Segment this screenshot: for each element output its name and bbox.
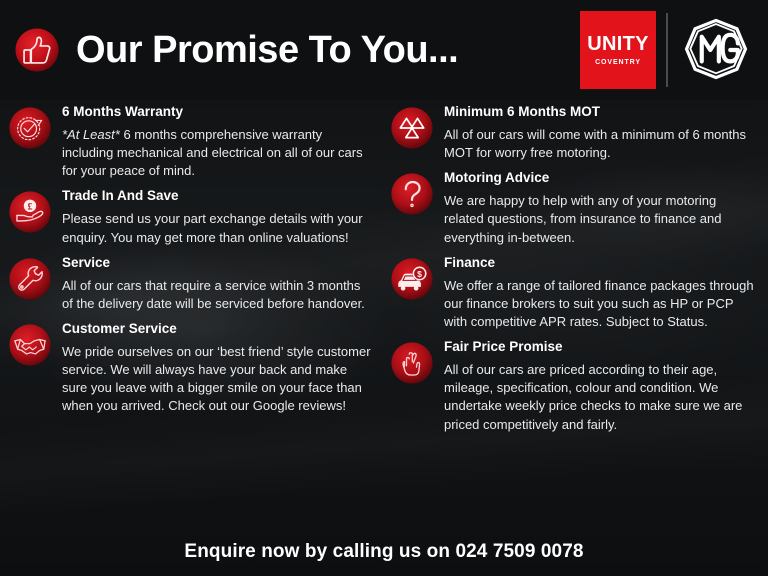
promise-text: All of our cars that require a service w… (62, 277, 374, 313)
promise-text: All of our cars will come with a minimum… (444, 126, 758, 162)
crossed-fingers-icon (390, 341, 434, 385)
promise-item-body: 6 Months Warranty *At Least* 6 months co… (62, 104, 374, 180)
promise-text: All of our cars are priced according to … (444, 361, 758, 434)
promise-item-body: Minimum 6 Months MOT All of our cars wil… (444, 104, 758, 162)
promise-heading: Motoring Advice (444, 170, 758, 187)
promise-text: *At Least* 6 months comprehensive warran… (62, 126, 374, 181)
promise-heading: Fair Price Promise (444, 339, 758, 356)
promise-text: Please send us your part exchange detail… (62, 210, 374, 246)
promise-item-customer-service: Customer Service We pride ourselves on o… (8, 321, 374, 416)
promise-heading: Minimum 6 Months MOT (444, 104, 758, 121)
unity-logo-location: COVENTRY (595, 59, 641, 66)
promise-item-body: Customer Service We pride ourselves on o… (62, 321, 374, 416)
promise-text-italic: *At Least* (62, 127, 120, 142)
promise-columns: 6 Months Warranty *At Least* 6 months co… (0, 104, 768, 528)
promise-item-body: Finance We offer a range of tailored fin… (444, 255, 758, 331)
logo-divider (666, 13, 668, 87)
footer-bar: Enquire now by calling us on 024 7509 00… (0, 528, 768, 576)
svg-text:$: $ (417, 269, 422, 279)
promise-item-body: Motoring Advice We are happy to help wit… (444, 170, 758, 246)
unity-logo-name: UNITY (587, 34, 649, 54)
left-column: 6 Months Warranty *At Least* 6 months co… (0, 104, 384, 528)
promise-heading: Customer Service (62, 321, 374, 338)
right-column: Minimum 6 Months MOT All of our cars wil… (384, 104, 768, 528)
promise-text: We are happy to help with any of your mo… (444, 192, 758, 247)
mot-triangles-icon (390, 106, 434, 150)
promise-item-service: Service All of our cars that require a s… (8, 255, 374, 313)
promise-heading: 6 Months Warranty (62, 104, 374, 121)
question-mark-icon (390, 172, 434, 216)
wrench-icon (8, 257, 52, 301)
hand-holding-pound-icon: £ (8, 190, 52, 234)
promise-item-body: Trade In And Save Please send us your pa… (62, 188, 374, 246)
promise-heading: Trade In And Save (62, 188, 374, 205)
mg-logo (678, 11, 754, 89)
handshake-icon (8, 323, 52, 367)
promise-item-warranty: 6 Months Warranty *At Least* 6 months co… (8, 104, 374, 180)
promise-heading: Service (62, 255, 374, 272)
promise-item-fair-price: Fair Price Promise All of our cars are p… (390, 339, 758, 434)
warranty-clock-check-icon (8, 106, 52, 150)
brand-logos: UNITY COVENTRY (580, 11, 754, 89)
footer-call-to-action[interactable]: Enquire now by calling us on 024 7509 00… (184, 541, 583, 563)
thumbs-up-icon (14, 27, 60, 73)
promise-item-finance: $ Finance We offer a range of tailored f… (390, 255, 758, 331)
unity-logo: UNITY COVENTRY (580, 11, 656, 89)
car-with-coin-icon: $ (390, 257, 434, 301)
header-bar: Our Promise To You... UNITY COVENTRY (0, 0, 768, 100)
promise-item-body: Service All of our cars that require a s… (62, 255, 374, 313)
page-title: Our Promise To You... (76, 29, 458, 72)
svg-text:£: £ (28, 202, 33, 213)
promise-heading: Finance (444, 255, 758, 272)
promise-banner: Our Promise To You... UNITY COVENTRY (0, 0, 768, 576)
promise-item-trade-in: £ Trade In And Save Please send us your … (8, 188, 374, 246)
promise-text: We pride ourselves on our ‘best friend’ … (62, 343, 374, 416)
promise-item-mot: Minimum 6 Months MOT All of our cars wil… (390, 104, 758, 162)
promise-item-body: Fair Price Promise All of our cars are p… (444, 339, 758, 434)
promise-item-motoring-advice: Motoring Advice We are happy to help wit… (390, 170, 758, 246)
promise-text: We offer a range of tailored finance pac… (444, 277, 758, 332)
